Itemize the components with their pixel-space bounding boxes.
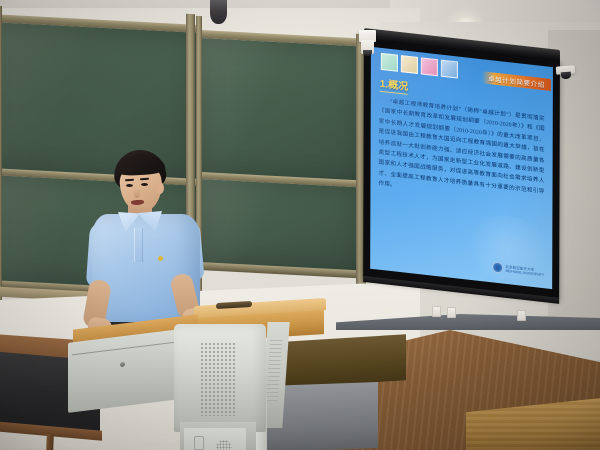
slide-body-text: “卓越工程师教育培养计划”（简称“卓越计划”）是贯彻落实《国家中长期教育改革和发… — [378, 96, 544, 208]
slide-thumbnail-strip — [381, 53, 458, 79]
pc-fan-vent-icon — [216, 440, 232, 450]
thumb-blue-icon — [441, 60, 458, 79]
multimedia-lectern — [68, 300, 368, 450]
bench-leg — [45, 434, 54, 450]
pc-badge-icon — [194, 436, 204, 450]
ear — [156, 182, 164, 194]
wall-outlet-icon — [447, 307, 456, 318]
shirt-placket — [134, 228, 143, 262]
lectern-dark-panel — [284, 334, 406, 387]
nose — [134, 188, 140, 198]
slide-heading: 1.概况 — [380, 75, 408, 93]
projection-screen: 卓越计划简要介绍 1.概况 “卓越工程师教育培养计划”（简称“卓越计划”）是贯彻… — [363, 28, 560, 320]
ceiling-speaker-dome-icon — [210, 0, 227, 24]
eye-left — [126, 184, 133, 187]
thumb-pink-icon — [421, 57, 438, 76]
board-mullion-far-left — [0, 6, 2, 312]
wall-outlet-icon — [432, 306, 441, 317]
thumb-sand-icon — [401, 55, 418, 74]
shirt-logo-icon — [158, 256, 163, 261]
screen-frame: 卓越计划简要介绍 1.概况 “卓越工程师教育培养计划”（简称“卓越计划”）是贯彻… — [363, 38, 560, 300]
thumb-teal-icon — [381, 53, 398, 72]
slide-surface: 卓越计划简要介绍 1.概况 “卓越工程师教育培养计划”（简称“卓越计划”）是贯彻… — [370, 47, 553, 289]
wall-outlet-icon — [517, 310, 526, 321]
lecture-hall-photo: 卓越计划简要介绍 1.概况 “卓越工程师教育培养计划”（简称“卓越计划”）是贯彻… — [0, 0, 600, 450]
university-seal-icon — [492, 261, 503, 273]
slide-banner-label: 卓越计划简要介绍 — [482, 71, 551, 91]
eye-right — [141, 183, 148, 186]
lectern-speaker-grille — [200, 342, 236, 416]
slide-watermark: 北京航空航天大学 BEIHANG UNIVERSITY — [492, 261, 544, 278]
lectern-left-body — [68, 329, 180, 413]
ceiling-camera-icon — [363, 50, 372, 56]
